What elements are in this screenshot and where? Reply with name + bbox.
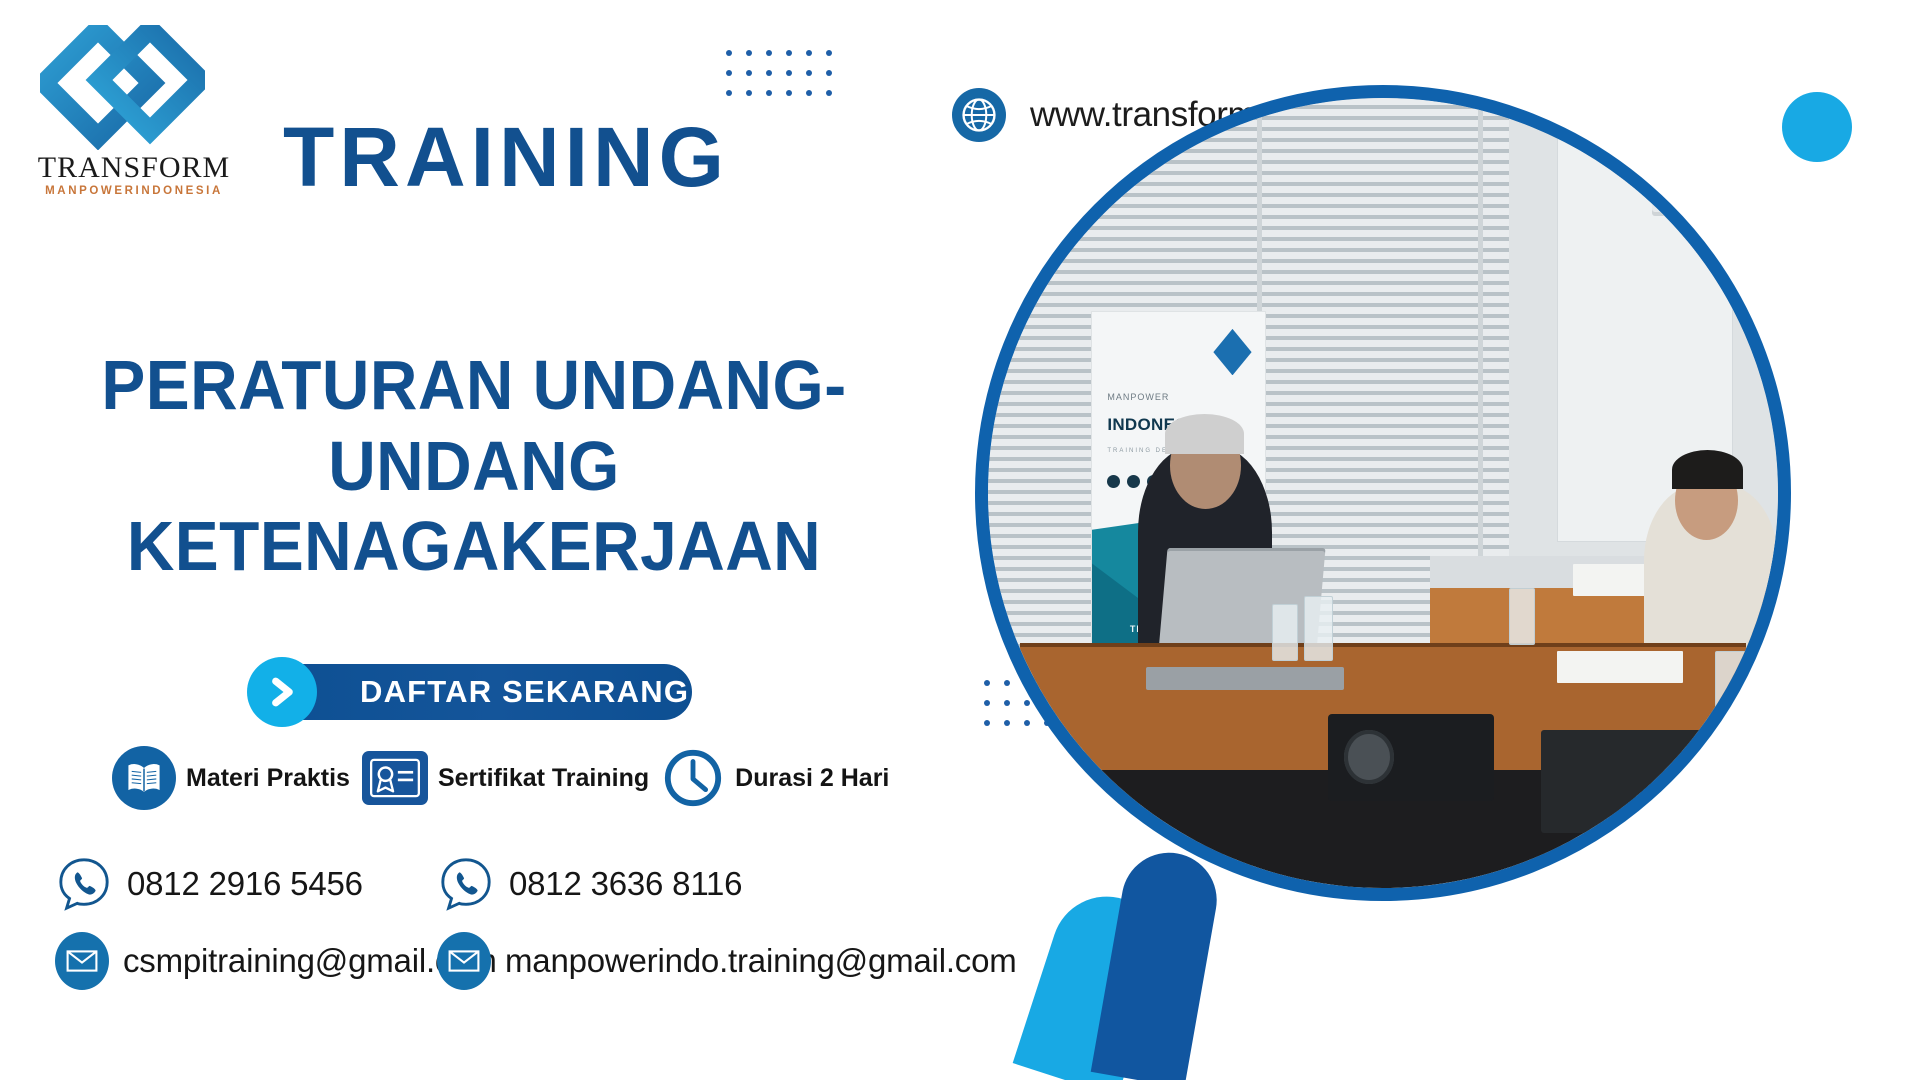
- contact-phone-2[interactable]: 0812 3636 8116: [437, 855, 742, 913]
- clock-icon: [661, 746, 725, 810]
- phone-number-2: 0812 3636 8116: [509, 865, 742, 903]
- feature-label-materi: Materi Praktis: [186, 764, 350, 793]
- envelope-icon: [437, 932, 491, 990]
- rollup-logo-icon: [1213, 329, 1251, 375]
- title-line-2: KETENAGAKERJAAN: [28, 506, 919, 587]
- photo-person-left-hair: [1165, 414, 1244, 454]
- photo-glass: [1304, 596, 1333, 661]
- feature-item-materi: Materi Praktis: [112, 746, 350, 810]
- photo-glass: [1509, 588, 1535, 645]
- photo-ac-unit: [1652, 145, 1771, 216]
- email-address-2: manpowerindo.training@gmail.com: [505, 942, 1017, 980]
- contact-email-1[interactable]: csmpitraining@gmail.com: [55, 932, 497, 990]
- certificate-icon: [362, 751, 428, 805]
- feature-item-durasi: Durasi 2 Hari: [661, 746, 889, 810]
- chevron-right-icon: [247, 657, 317, 727]
- brand-name: TRANSFORM: [34, 153, 234, 183]
- brand-logo: TRANSFORM MANPOWERINDONESIA: [22, 25, 237, 200]
- photo-projector-lens: [1344, 730, 1394, 784]
- interlocking-diamonds-logo-icon: [40, 25, 205, 150]
- phone-number-1: 0812 2916 5456: [127, 865, 363, 903]
- photo-papers: [1557, 651, 1683, 683]
- contact-phone-1[interactable]: 0812 2916 5456: [55, 855, 363, 913]
- envelope-icon: [55, 932, 109, 990]
- training-photo-circle: MANPOWER INDONESIA TRAINING DEPARTMENT T…: [975, 85, 1791, 901]
- photo-projector: [1328, 714, 1494, 801]
- title-line-1: PERATURAN UNDANG-UNDANG: [101, 346, 846, 505]
- feature-item-sertifikat: Sertifikat Training: [362, 751, 649, 805]
- photo-person-right-hair: [1672, 450, 1743, 490]
- training-photo: MANPOWER INDONESIA TRAINING DEPARTMENT T…: [988, 98, 1778, 888]
- contact-email-2[interactable]: manpowerindo.training@gmail.com: [437, 932, 1017, 990]
- page-title: PERATURAN UNDANG-UNDANG KETENAGAKERJAAN: [28, 345, 919, 587]
- photo-glass: [1715, 651, 1749, 724]
- brand-tagline: MANPOWERINDONESIA: [34, 185, 234, 197]
- feature-list: Materi Praktis Sertifikat Training: [112, 746, 889, 810]
- book-icon: [112, 746, 176, 810]
- register-button[interactable]: DAFTAR SEKARANG: [252, 664, 692, 720]
- rollup-line-1: MANPOWER: [1107, 392, 1169, 402]
- photo-glass: [1272, 604, 1298, 661]
- kicker-heading: TRAINING: [283, 115, 729, 199]
- feature-label-sertifikat: Sertifikat Training: [438, 764, 649, 793]
- photo-laptop-secondary: [1541, 730, 1715, 833]
- register-button-label: DAFTAR SEKARANG: [360, 674, 689, 710]
- photo-laptop-base: [1146, 667, 1344, 691]
- feature-label-durasi: Durasi 2 Hari: [735, 764, 889, 793]
- decoration-circle-cyan-topright: [1782, 92, 1852, 162]
- whatsapp-phone-icon: [55, 855, 113, 913]
- dot-grid-decoration-top: [726, 50, 832, 96]
- whatsapp-phone-icon: [437, 855, 495, 913]
- poster-canvas: TRANSFORM MANPOWERINDONESIA www.transfor…: [0, 0, 1920, 1080]
